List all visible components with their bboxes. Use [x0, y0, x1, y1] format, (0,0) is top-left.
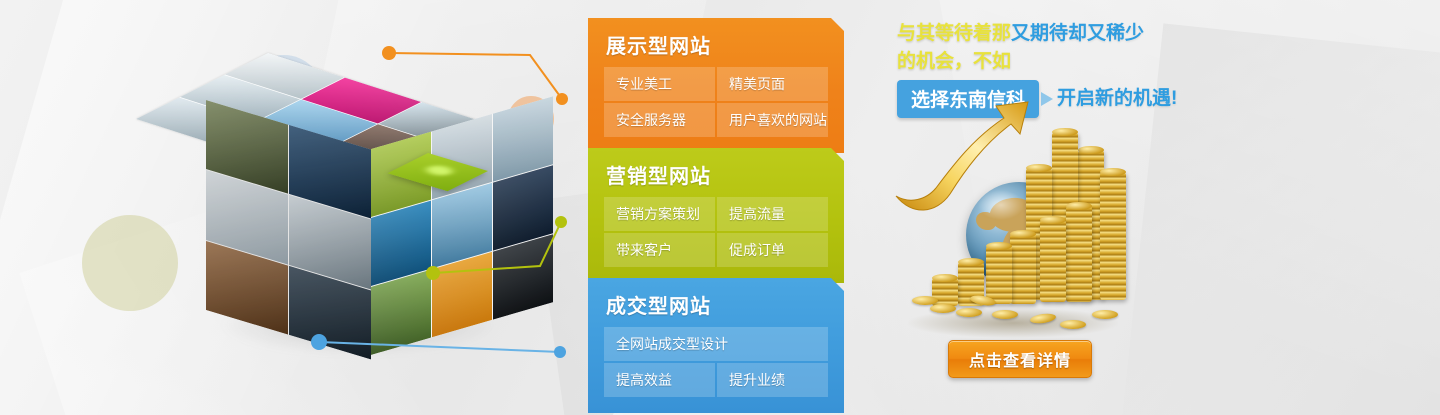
coin-stack — [1010, 234, 1036, 304]
panel-row: 提高效益 提升业绩 — [604, 363, 828, 397]
panel-feature-list: 营销方案策划 提高流量 带来客户 促成订单 — [588, 197, 844, 283]
globe-with-gold-coin-stacks — [900, 110, 1130, 345]
loose-coin — [912, 296, 938, 305]
connector-node-green — [555, 216, 567, 228]
feature-chip[interactable]: 提升业绩 — [717, 363, 828, 397]
headline-text-yellow: 与其等待着那 — [897, 23, 1011, 44]
feature-chip[interactable]: 用户喜欢的网站 — [717, 103, 828, 137]
feature-chip[interactable]: 提高流量 — [717, 197, 828, 231]
loose-coin — [1092, 310, 1118, 319]
view-details-button[interactable]: 点击查看详情 — [948, 340, 1092, 378]
feature-chip[interactable]: 带来客户 — [604, 233, 715, 267]
loose-coin — [1060, 320, 1086, 329]
service-panel-marketing[interactable]: 营销型网站 营销方案策划 提高流量 带来客户 促成订单 — [588, 148, 844, 283]
arrow-right-icon — [1041, 92, 1053, 106]
headline-text-blue: 又期待却又稀少 — [1011, 23, 1144, 44]
panel-row: 营销方案策划 提高流量 — [604, 197, 828, 231]
panel-feature-list: 专业美工 精美页面 安全服务器 用户喜欢的网站 — [588, 67, 844, 153]
panel-title-deal: 成交型网站 — [588, 278, 844, 327]
panel-row: 安全服务器 用户喜欢的网站 — [604, 103, 828, 137]
feature-chip[interactable]: 专业美工 — [604, 67, 715, 101]
promo-banner: 展示型网站 专业美工 精美页面 安全服务器 用户喜欢的网站 营销型网站 营销方案… — [0, 0, 1440, 415]
connector-node-orange — [556, 93, 568, 105]
coin-stack — [986, 246, 1012, 304]
feature-chip[interactable]: 营销方案策划 — [604, 197, 715, 231]
panel-row: 全网站成交型设计 — [604, 327, 828, 361]
feature-chip[interactable]: 促成订单 — [717, 233, 828, 267]
headline-line-2: 的机会，不如 — [897, 48, 1317, 76]
feature-chip[interactable]: 全网站成交型设计 — [604, 327, 828, 361]
loose-coin — [956, 308, 982, 317]
feature-chip[interactable]: 精美页面 — [717, 67, 828, 101]
coin-stack — [1066, 206, 1092, 302]
panel-row: 专业美工 精美页面 — [604, 67, 828, 101]
loose-coin — [930, 304, 956, 313]
feature-chip[interactable]: 提高效益 — [604, 363, 715, 397]
panel-row: 带来客户 促成订单 — [604, 233, 828, 267]
panel-feature-list: 全网站成交型设计 提高效益 提升业绩 — [588, 327, 844, 413]
feature-chip[interactable]: 安全服务器 — [604, 103, 715, 137]
loose-coin — [992, 310, 1018, 319]
headline-line-1: 与其等待着那又期待却又稀少 — [897, 20, 1317, 48]
connector-node-blue — [554, 346, 566, 358]
panel-title-marketing: 营销型网站 — [588, 148, 844, 197]
connector-node-green — [426, 266, 440, 280]
service-panel-deal[interactable]: 成交型网站 全网站成交型设计 提高效益 提升业绩 — [588, 278, 844, 413]
connector-node-blue — [311, 334, 327, 350]
connector-node-orange — [382, 46, 396, 60]
coin-stack — [1100, 172, 1126, 300]
service-panel-showcase[interactable]: 展示型网站 专业美工 精美页面 安全服务器 用户喜欢的网站 — [588, 18, 844, 153]
coin-stack — [1040, 220, 1066, 302]
panel-title-showcase: 展示型网站 — [588, 18, 844, 67]
headline-tail-text: 开启新的机遇! — [1057, 85, 1177, 113]
